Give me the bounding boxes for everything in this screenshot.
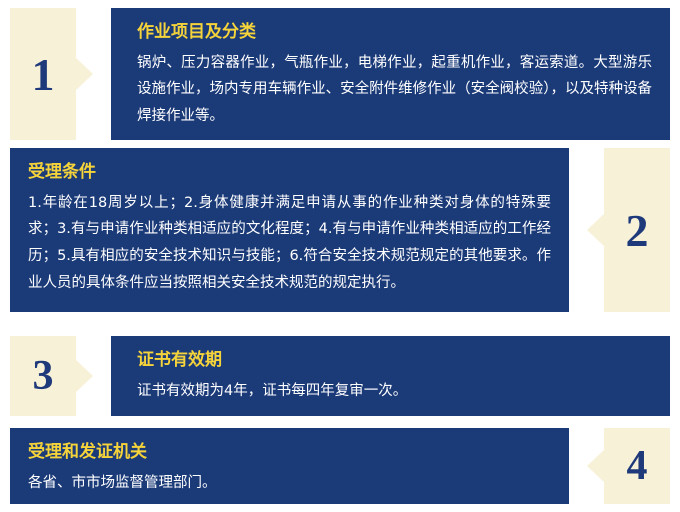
- arrow-right-icon-3: [75, 359, 111, 393]
- section-body-2: 1.年龄在18周岁以上；2.身体健康并满足申请从事的作业种类对身体的特殊要求；3…: [28, 190, 551, 297]
- arrow-left-icon-2: [569, 213, 605, 247]
- section-body-3: 证书有效期为4年，证书每四年复审一次。: [137, 378, 652, 405]
- section-body-4: 各省、市市场监督管理部门。: [28, 470, 551, 497]
- section-content-2: 受理条件 1.年龄在18周岁以上；2.身体健康并满足申请从事的作业种类对身体的特…: [10, 148, 569, 312]
- section-row-2: 受理条件 1.年龄在18周岁以上；2.身体健康并满足申请从事的作业种类对身体的特…: [10, 148, 670, 312]
- section-body-1: 锅炉、压力容器作业，气瓶作业，电梯作业，起重机作业，客运索道。大型游乐设施作业，…: [137, 50, 652, 130]
- section-number-4: 4: [604, 428, 670, 504]
- section-title-1: 作业项目及分类: [137, 20, 652, 46]
- section-content-3: 证书有效期 证书有效期为4年，证书每四年复审一次。: [111, 336, 670, 416]
- section-number-2: 2: [604, 148, 670, 312]
- section-title-2: 受理条件: [28, 160, 551, 186]
- section-content-4: 受理和发证机关 各省、市市场监督管理部门。: [10, 428, 569, 504]
- section-number-3: 3: [10, 336, 76, 416]
- arrow-right-icon-1: [75, 57, 111, 91]
- section-content-1: 作业项目及分类 锅炉、压力容器作业，气瓶作业，电梯作业，起重机作业，客运索道。大…: [111, 8, 670, 140]
- section-row-3: 3 证书有效期 证书有效期为4年，证书每四年复审一次。: [10, 336, 670, 416]
- section-row-4: 受理和发证机关 各省、市市场监督管理部门。 4: [10, 428, 670, 504]
- section-row-1: 1 作业项目及分类 锅炉、压力容器作业，气瓶作业，电梯作业，起重机作业，客运索道…: [10, 8, 670, 140]
- section-title-4: 受理和发证机关: [28, 440, 551, 466]
- section-number-1: 1: [10, 8, 76, 140]
- arrow-left-icon-4: [569, 449, 605, 483]
- infographic-board: 1 作业项目及分类 锅炉、压力容器作业，气瓶作业，电梯作业，起重机作业，客运索道…: [0, 0, 680, 512]
- section-title-3: 证书有效期: [137, 348, 652, 374]
